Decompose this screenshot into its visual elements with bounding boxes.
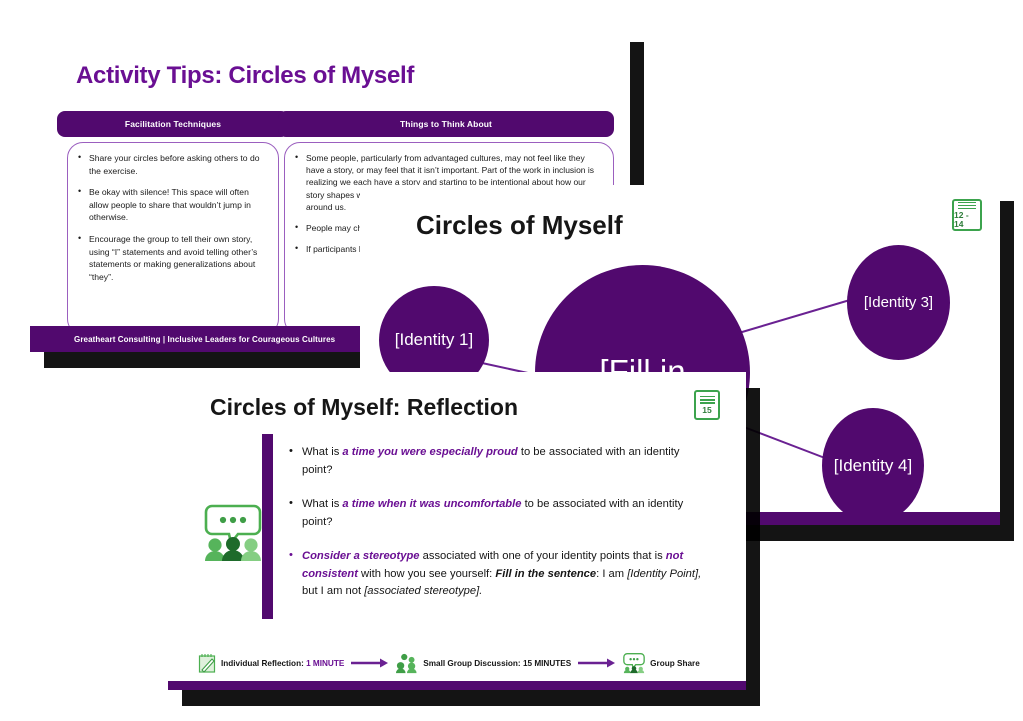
diagram-node-identity4[interactable]: [Identity 4] — [822, 408, 924, 523]
arrow-right-icon — [351, 657, 389, 669]
group-share-icon — [623, 652, 645, 674]
slide3-title: Circles of Myself: Reflection — [210, 394, 518, 421]
slide3-bottom-bar — [168, 681, 746, 690]
flow-step-time: 15 MINUTES — [523, 659, 571, 668]
slide3-badge-number: 15 — [702, 406, 711, 415]
bullet-text-plain: : I am — [596, 568, 627, 580]
slide1-column-header-think-about: Things to Think About — [278, 111, 614, 137]
flow-step-label: Small Group Discussion: 15 MINUTES — [423, 659, 571, 668]
flow-step-group-share: Group Share — [623, 652, 700, 674]
flow-step-text: Small Group Discussion: — [423, 659, 523, 668]
bullet-text-emphasis: Consider a stereotype — [302, 550, 420, 562]
flow-step-label: Group Share — [650, 659, 700, 668]
list-item: What is a time you were especially proud… — [288, 444, 708, 479]
slide1-footer-label: Greatheart Consulting | Inclusive Leader… — [74, 335, 335, 344]
diagram-node-identity3[interactable]: [Identity 3] — [847, 245, 950, 360]
slide1-bullet-list: Share your circles before asking others … — [68, 143, 278, 283]
lines-glyph — [700, 396, 715, 404]
small-group-icon — [396, 652, 418, 674]
bullet-text-plain: with how you see yourself: — [358, 568, 495, 580]
arrow-right-icon — [578, 657, 616, 669]
flow-step-time: 1 MINUTE — [306, 659, 344, 668]
list-item: Share your circles before asking others … — [76, 152, 268, 177]
slide1-column-header-label: Facilitation Techniques — [125, 119, 221, 129]
slide1-title: Activity Tips: Circles of Myself — [76, 62, 414, 90]
slide1-panel-facilitation: Share your circles before asking others … — [67, 142, 279, 335]
bullet-text-plain: What is — [302, 498, 342, 510]
list-item: Be okay with silence! This space will of… — [76, 186, 268, 224]
slide1-column-header-facilitation: Facilitation Techniques — [57, 111, 289, 137]
slide1-column-header-label: Things to Think About — [400, 119, 492, 129]
list-item: Consider a stereotype associated with on… — [288, 548, 708, 601]
flow-step-individual-reflection: Individual Reflection: 1 MINUTE — [198, 653, 344, 673]
bullet-text-italic: [Identity Point], — [627, 568, 701, 580]
bullet-text-plain: associated with one of your identity poi… — [420, 550, 666, 562]
slide3-bullet-list: What is a time you were especially proud… — [288, 444, 708, 618]
bullet-text-emphasis: a time you were especially proud — [342, 446, 517, 458]
list-item: Encourage the group to tell their own st… — [76, 233, 268, 283]
bullet-text-plain: What is — [302, 446, 342, 458]
slide3-activity-flow: Individual Reflection: 1 MINUTE Small Gr… — [168, 648, 746, 678]
bullet-text-emphasis: a time when it was uncomfortable — [342, 498, 521, 510]
list-item: What is a time when it was uncomfortable… — [288, 496, 708, 531]
bullet-text-italic: [associated stereotype]. — [364, 585, 482, 597]
flow-step-text: Individual Reflection: — [221, 659, 306, 668]
notepad-pencil-icon — [198, 653, 216, 673]
flow-step-small-group: Small Group Discussion: 15 MINUTES — [396, 652, 571, 674]
bullet-text-bold-italic: Fill in the sentence — [495, 568, 596, 580]
slide-circles-reflection[interactable]: Circles of Myself: Reflection 15 What — [168, 372, 746, 690]
slide-stack: Activity Tips: Circles of Myself Facilit… — [0, 0, 1023, 721]
flow-step-label: Individual Reflection: 1 MINUTE — [221, 659, 344, 668]
slide-lines-icon: 15 — [694, 390, 720, 420]
flow-step-text: Group Share — [650, 659, 700, 668]
group-discussion-icon — [202, 500, 264, 562]
bullet-text-plain: but I am not — [302, 585, 364, 597]
